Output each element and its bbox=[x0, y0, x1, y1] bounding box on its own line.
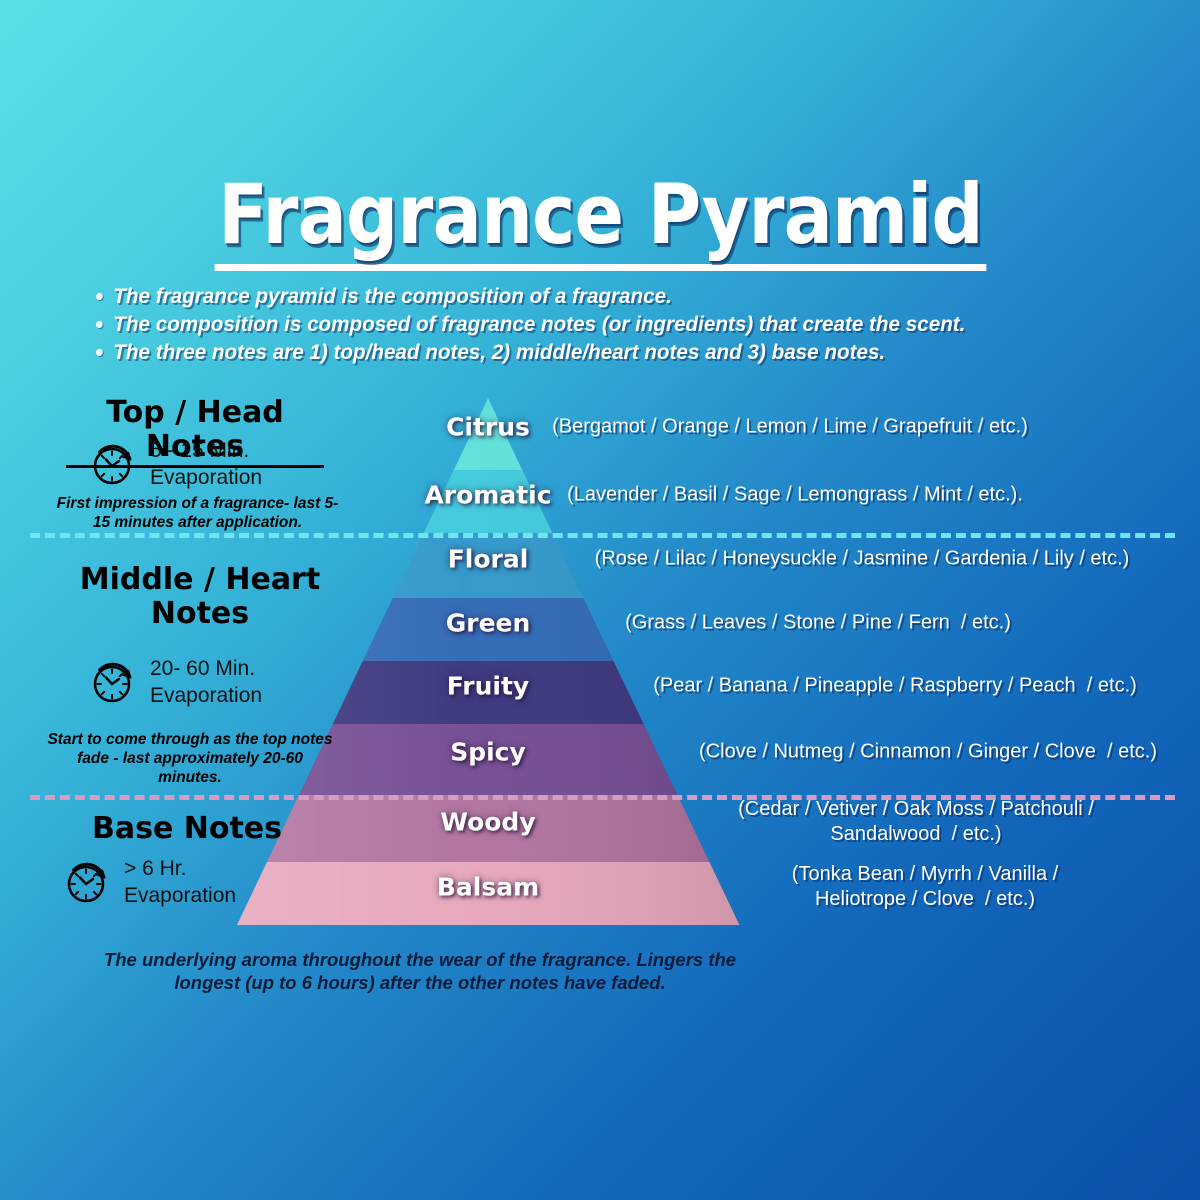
tier-label-aromatic: Aromatic bbox=[424, 483, 551, 508]
timing-middle-notes: 20- 60 Min. Evaporation bbox=[88, 655, 262, 709]
bullet-dot-icon bbox=[96, 349, 103, 356]
timing-top-notes: 5 - 15 Min. Evaporation bbox=[88, 437, 262, 491]
clock-arrow-icon bbox=[88, 656, 140, 708]
bullet-text: The composition is composed of fragrance… bbox=[113, 311, 965, 338]
timing-text-top: 5 - 15 Min. Evaporation bbox=[150, 437, 262, 491]
tier-label-green: Green bbox=[446, 611, 531, 636]
tier-ingredients-citrus: (Bergamot / Orange / Lemon / Lime / Grap… bbox=[552, 414, 1028, 439]
tier-label-balsam: Balsam bbox=[437, 875, 539, 900]
section-heading-base-notes: Base Notes bbox=[62, 812, 312, 846]
bullet-text: The three notes are 1) top/head notes, 2… bbox=[113, 339, 885, 366]
clock-arrow-icon bbox=[88, 438, 140, 490]
evaporation-label: Evaporation bbox=[150, 682, 262, 709]
evaporation-label: Evaporation bbox=[124, 882, 236, 909]
clock-arrow-icon bbox=[62, 856, 114, 908]
timing-text-base: > 6 Hr. Evaporation bbox=[124, 855, 236, 909]
divider-middle-base bbox=[30, 795, 1175, 800]
list-item: The fragrance pyramid is the composition… bbox=[96, 283, 1133, 310]
section-heading-middle-line2: Notes bbox=[50, 597, 350, 631]
evaporation-duration: > 6 Hr. bbox=[124, 855, 236, 882]
caption-top-notes: First impression of a fragrance- last 5-… bbox=[55, 494, 340, 532]
infographic-canvas: Fragrance Pyramid The fragrance pyramid … bbox=[0, 0, 1200, 1200]
timing-base-notes: > 6 Hr. Evaporation bbox=[62, 855, 236, 909]
tier-label-citrus: Citrus bbox=[446, 414, 530, 439]
page-title-container: Fragrance Pyramid bbox=[0, 172, 1200, 271]
bullet-dot-icon bbox=[96, 321, 103, 328]
evaporation-duration: 5 - 15 Min. bbox=[150, 437, 262, 464]
tier-ingredients-fruity: (Pear / Banana / Pineapple / Raspberry /… bbox=[653, 674, 1137, 699]
tier-ingredients-balsam: (Tonka Bean / Myrrh / Vanilla / Heliotro… bbox=[792, 862, 1058, 912]
divider-top-middle bbox=[30, 533, 1175, 538]
tier-label-spicy: Spicy bbox=[450, 740, 526, 765]
evaporation-duration: 20- 60 Min. bbox=[150, 655, 262, 682]
tier-label-fruity: Fruity bbox=[447, 674, 529, 699]
bullet-text: The fragrance pyramid is the composition… bbox=[113, 283, 672, 310]
evaporation-label: Evaporation bbox=[150, 464, 262, 491]
section-heading-middle-notes: Middle / Heart Notes bbox=[50, 563, 350, 631]
tier-ingredients-floral: (Rose / Lilac / Honeysuckle / Jasmine / … bbox=[595, 547, 1130, 572]
timing-text-middle: 20- 60 Min. Evaporation bbox=[150, 655, 262, 709]
tier-ingredients-spicy: (Clove / Nutmeg / Cinnamon / Ginger / Cl… bbox=[699, 740, 1157, 765]
caption-base-notes: The underlying aroma throughout the wear… bbox=[70, 948, 770, 994]
tier-ingredients-woody: (Cedar / Vetiver / Oak Moss / Patchouli … bbox=[738, 797, 1094, 847]
tier-ingredients-green: (Grass / Leaves / Stone / Pine / Fern / … bbox=[625, 611, 1011, 636]
list-item: The composition is composed of fragrance… bbox=[96, 311, 1133, 338]
bullet-dot-icon bbox=[96, 293, 103, 300]
tier-ingredients-aromatic: (Lavender / Basil / Sage / Lemongrass / … bbox=[567, 483, 1023, 508]
tier-label-woody: Woody bbox=[440, 809, 535, 834]
list-item: The three notes are 1) top/head notes, 2… bbox=[96, 339, 1133, 366]
intro-bullet-list: The fragrance pyramid is the composition… bbox=[96, 283, 1176, 367]
section-heading-middle-line1: Middle / Heart bbox=[50, 563, 350, 597]
caption-middle-notes: Start to come through as the top notes f… bbox=[45, 730, 335, 787]
tier-label-floral: Floral bbox=[448, 547, 529, 572]
page-title: Fragrance Pyramid bbox=[214, 172, 986, 271]
